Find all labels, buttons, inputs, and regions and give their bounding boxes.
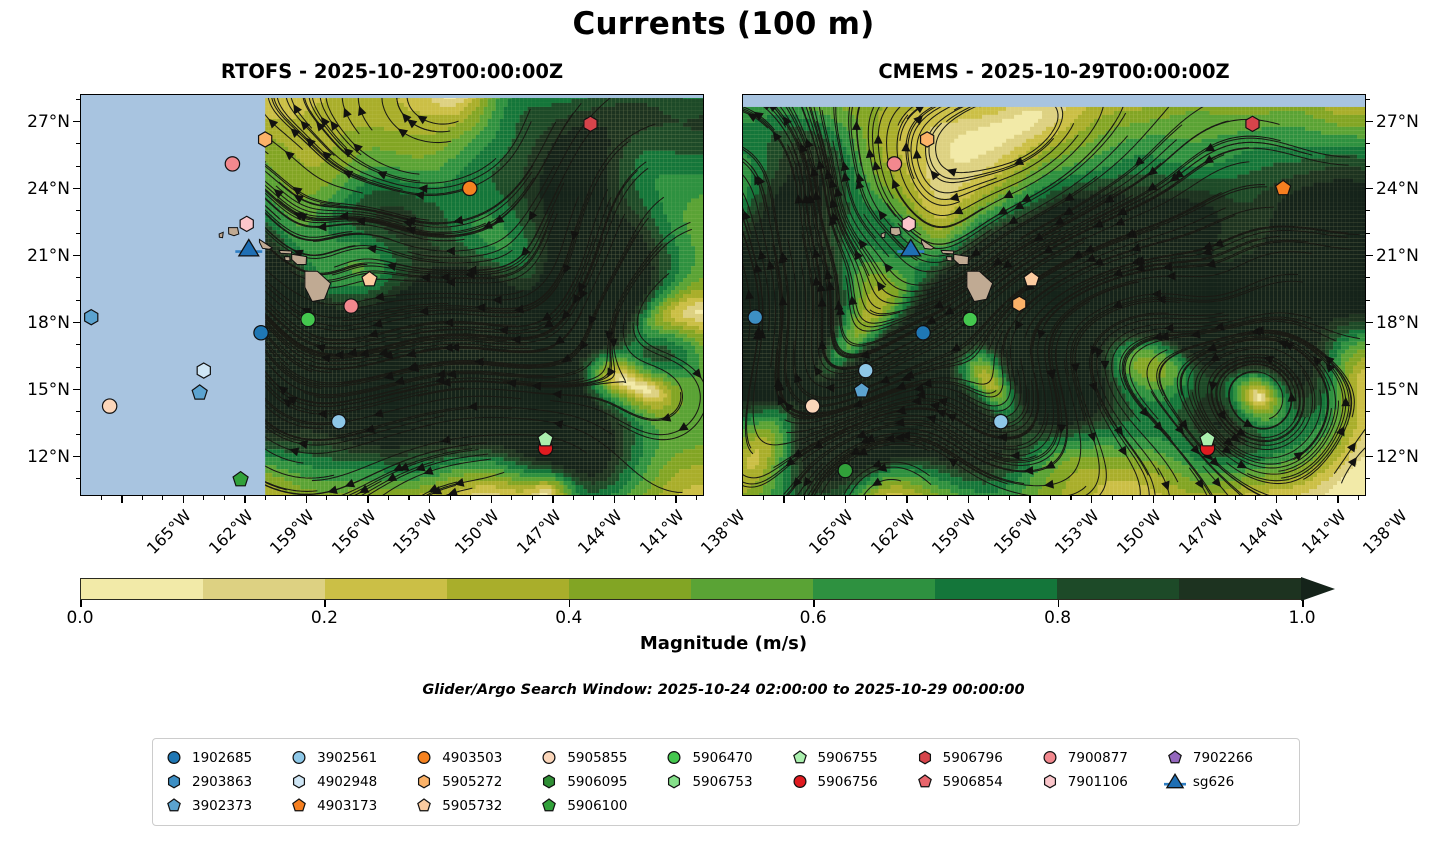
legend-label-5906756: 5906756 xyxy=(818,774,878,790)
xtick-minor-cmems xyxy=(1112,496,1113,500)
top-mask-strip xyxy=(81,95,703,98)
xtick-label-cmems-6: 147°W xyxy=(1174,506,1226,558)
ytick-minor-cmems xyxy=(1366,166,1370,167)
colorbar-band-1 xyxy=(203,579,325,599)
ytick-label-left-3: 18°N xyxy=(0,313,70,333)
xtick-minor-cmems xyxy=(1317,496,1318,500)
legend-marker-5906100 xyxy=(538,796,560,815)
colorbar-tick-5 xyxy=(1302,600,1304,607)
xtick-label-rtofs-0: 165°W xyxy=(143,506,195,558)
ytick-minor-cmems xyxy=(1366,99,1370,100)
colorbar-ticklabel-4: 0.8 xyxy=(1044,608,1071,628)
xtick-rtofs-6 xyxy=(491,496,493,503)
legend-item-5906755[interactable]: 5906755 xyxy=(789,748,914,767)
float-marker-5906470[interactable] xyxy=(301,312,315,326)
legend-label-5905732: 5905732 xyxy=(442,798,502,814)
float-marker-5905855[interactable] xyxy=(102,399,116,413)
xtick-cmems-7 xyxy=(1214,496,1216,503)
legend-label-4902948: 4902948 xyxy=(317,774,377,790)
xtick-rtofs-7 xyxy=(552,496,554,503)
top-mask-strip xyxy=(743,95,1365,107)
xtick-minor-cmems xyxy=(1009,496,1010,500)
figure-canvas: Currents (100 m) RTOFS - 2025-10-29T00:0… xyxy=(0,0,1447,863)
legend-marker-5906796 xyxy=(914,748,936,767)
map-canvas-rtofs xyxy=(81,95,703,495)
legend-marker-3902561 xyxy=(288,748,310,767)
xtick-cmems-1 xyxy=(845,496,847,503)
ytick-minor-cmems xyxy=(1366,233,1370,234)
ytick-rtofs-4 xyxy=(73,389,80,391)
xtick-label-rtofs-3: 156°W xyxy=(328,506,380,558)
ytick-minor-cmems xyxy=(1366,367,1370,368)
xtick-minor-cmems xyxy=(824,496,825,500)
xtick-label-cmems-9: 138°W xyxy=(1359,506,1411,558)
xtick-label-cmems-3: 156°W xyxy=(990,506,1042,558)
ytick-minor-rtofs xyxy=(76,344,80,345)
panel-title-rtofs: RTOFS - 2025-10-29T00:00:00Z xyxy=(80,60,704,83)
legend-marker-7900877 xyxy=(1039,748,1061,767)
ytick-cmems-4 xyxy=(1366,389,1373,391)
xtick-rtofs-5 xyxy=(429,496,431,503)
float-marker-5906470[interactable] xyxy=(963,312,977,326)
xtick-minor-rtofs xyxy=(388,496,389,500)
legend-marker-5906095 xyxy=(538,772,560,791)
float-marker-5905272[interactable] xyxy=(921,132,934,147)
legend-label-5906100: 5906100 xyxy=(567,798,627,814)
ytick-minor-rtofs xyxy=(76,434,80,435)
legend-label-5906470: 5906470 xyxy=(692,750,752,766)
ytick-label-right-0: 27°N xyxy=(1376,112,1446,132)
ytick-minor-cmems xyxy=(1366,344,1370,345)
xtick-rtofs-8 xyxy=(614,496,616,503)
legend-item-5906756[interactable]: 5906756 xyxy=(789,772,914,791)
xtick-minor-cmems xyxy=(886,496,887,500)
legend-item-2903863[interactable]: 2903863 xyxy=(163,772,288,791)
xtick-cmems-5 xyxy=(1091,496,1093,503)
legend-marker-7901106 xyxy=(1039,772,1061,791)
legend-marker-sg626 xyxy=(1164,772,1186,791)
xtick-minor-rtofs xyxy=(162,496,163,500)
ytick-label-right-2: 21°N xyxy=(1376,246,1446,266)
colorbar-band-0 xyxy=(81,579,203,599)
ytick-cmems-1 xyxy=(1366,188,1373,190)
panel-title-cmems: CMEMS - 2025-10-29T00:00:00Z xyxy=(742,60,1366,83)
colorbar-band-2 xyxy=(325,579,447,599)
legend-item-5906854[interactable]: 5906854 xyxy=(914,772,1039,791)
legend-marker-7902266 xyxy=(1164,748,1186,767)
legend-label-2903863: 2903863 xyxy=(192,774,252,790)
xtick-label-rtofs-7: 144°W xyxy=(574,506,626,558)
float-marker-5906796[interactable] xyxy=(584,116,597,131)
ytick-minor-rtofs xyxy=(76,99,80,100)
legend-label-5906753: 5906753 xyxy=(692,774,752,790)
legend-marker-5905732 xyxy=(413,796,435,815)
ytick-minor-cmems xyxy=(1366,277,1370,278)
legend-label-5906755: 5906755 xyxy=(818,750,878,766)
float-marker-3902561b[interactable] xyxy=(994,415,1008,429)
ytick-label-right-3: 18°N xyxy=(1376,313,1446,333)
float-marker-5906796[interactable] xyxy=(1246,116,1259,131)
xtick-label-cmems-5: 150°W xyxy=(1113,506,1165,558)
legend-marker-4902948 xyxy=(288,772,310,791)
colorbar-band-7 xyxy=(935,579,1057,599)
legend-label-5905855: 5905855 xyxy=(567,750,627,766)
xtick-cmems-8 xyxy=(1276,496,1278,503)
colorbar-band-5 xyxy=(691,579,813,599)
ytick-minor-cmems xyxy=(1366,300,1370,301)
ytick-minor-cmems xyxy=(1366,434,1370,435)
colorbar-tick-4 xyxy=(1058,600,1060,607)
legend-item-5906753[interactable]: 5906753 xyxy=(663,772,788,791)
ytick-minor-rtofs xyxy=(76,367,80,368)
ytick-minor-rtofs xyxy=(76,411,80,412)
xtick-minor-cmems xyxy=(865,496,866,500)
ytick-minor-rtofs xyxy=(76,478,80,479)
ytick-label-left-2: 21°N xyxy=(0,246,70,266)
xtick-label-cmems-0: 165°W xyxy=(805,506,857,558)
ytick-minor-rtofs xyxy=(76,233,80,234)
legend-label-3902373: 3902373 xyxy=(192,798,252,814)
legend-label-sg626: sg626 xyxy=(1193,774,1234,790)
legend-label-1902685: 1902685 xyxy=(192,750,252,766)
float-marker-7900877[interactable] xyxy=(887,157,901,171)
legend-item-5905855[interactable]: 5905855 xyxy=(538,748,663,767)
colorbar-ticklabel-1: 0.2 xyxy=(311,608,338,628)
xtick-label-rtofs-6: 147°W xyxy=(512,506,564,558)
ytick-minor-cmems xyxy=(1366,143,1370,144)
xtick-label-cmems-1: 162°W xyxy=(867,506,919,558)
xtick-minor-cmems xyxy=(1255,496,1256,500)
float-marker-2903863[interactable] xyxy=(748,310,762,324)
ytick-label-right-4: 15°N xyxy=(1376,380,1446,400)
xtick-label-cmems-2: 159°W xyxy=(928,506,980,558)
xtick-minor-rtofs xyxy=(696,496,697,500)
ytick-rtofs-5 xyxy=(73,456,80,458)
xtick-cmems-0 xyxy=(783,496,785,503)
legend-label-4903173: 4903173 xyxy=(317,798,377,814)
xtick-minor-rtofs xyxy=(634,496,635,500)
xtick-minor-rtofs xyxy=(655,496,656,500)
figure-suptitle: Currents (100 m) xyxy=(0,6,1447,42)
xtick-label-rtofs-5: 150°W xyxy=(451,506,503,558)
xtick-minor-rtofs xyxy=(408,496,409,500)
legend-label-7901106: 7901106 xyxy=(1068,774,1128,790)
legend-item-4902948[interactable]: 4902948 xyxy=(288,772,413,791)
ytick-minor-rtofs xyxy=(76,277,80,278)
float-marker-3902561[interactable] xyxy=(859,363,873,377)
xtick-cmems-6 xyxy=(1153,496,1155,503)
legend-marker-5905855 xyxy=(538,748,560,767)
xtick-cmems-2 xyxy=(906,496,908,503)
colorbar-extend-arrow xyxy=(1301,577,1335,601)
colorbar-gradient xyxy=(80,578,1302,600)
xtick-minor-rtofs xyxy=(450,496,451,500)
ytick-label-right-1: 24°N xyxy=(1376,179,1446,199)
float-marker-7901106[interactable] xyxy=(902,216,915,231)
xtick-minor-rtofs xyxy=(573,496,574,500)
ytick-minor-cmems xyxy=(1366,411,1370,412)
xtick-minor-cmems xyxy=(1173,496,1174,500)
ytick-label-right-5: 12°N xyxy=(1376,447,1446,467)
legend-item-sg626[interactable]: sg626 xyxy=(1164,772,1289,791)
ytick-cmems-2 xyxy=(1366,255,1373,257)
float-legend[interactable]: 1902685 2903863 3902373 3902561 xyxy=(152,738,1300,826)
xtick-rtofs-9 xyxy=(675,496,677,503)
xtick-minor-rtofs xyxy=(285,496,286,500)
legend-label-7900877: 7900877 xyxy=(1068,750,1128,766)
float-marker-5905272b[interactable] xyxy=(1013,296,1026,311)
xtick-cmems-4 xyxy=(1029,496,1031,503)
colorbar-label: Magnitude (m/s) xyxy=(0,633,1447,654)
ytick-minor-cmems xyxy=(1366,478,1370,479)
xtick-label-cmems-8: 141°W xyxy=(1298,506,1350,558)
legend-item-5906100[interactable]: 5906100 xyxy=(538,796,663,815)
ytick-label-left-5: 12°N xyxy=(0,447,70,467)
legend-item-5906796[interactable]: 5906796 xyxy=(914,748,1039,767)
ytick-cmems-0 xyxy=(1366,121,1373,123)
float-marker-1902685[interactable] xyxy=(254,326,268,340)
colorbar-band-9 xyxy=(1179,579,1301,599)
legend-label-5906796: 5906796 xyxy=(943,750,1003,766)
legend-marker-5906755 xyxy=(789,748,811,767)
colorbar[interactable] xyxy=(80,578,1302,600)
colorbar-band-4 xyxy=(569,579,691,599)
ytick-minor-rtofs xyxy=(76,300,80,301)
legend-marker-2903863 xyxy=(163,772,185,791)
xtick-minor-rtofs xyxy=(224,496,225,500)
colorbar-ticklabel-0: 0.0 xyxy=(66,608,93,628)
xtick-minor-rtofs xyxy=(265,496,266,500)
xtick-minor-cmems xyxy=(804,496,805,500)
ytick-rtofs-2 xyxy=(73,255,80,257)
colorbar-ticklabel-5: 1.0 xyxy=(1288,608,1315,628)
map-canvas-cmems xyxy=(743,95,1365,495)
legend-item-4903503[interactable]: 4903503 xyxy=(413,748,538,767)
legend-item-5906095[interactable]: 5906095 xyxy=(538,772,663,791)
float-marker-5905272[interactable] xyxy=(259,132,272,147)
xtick-minor-cmems xyxy=(763,496,764,500)
float-marker-1902685[interactable] xyxy=(916,326,930,340)
colorbar-band-8 xyxy=(1057,579,1179,599)
ytick-label-left-0: 27°N xyxy=(0,112,70,132)
legend-item-3902373[interactable]: 3902373 xyxy=(163,796,288,815)
legend-marker-5906756 xyxy=(789,772,811,791)
legend-marker-5906854 xyxy=(914,772,936,791)
xtick-label-rtofs-4: 153°W xyxy=(389,506,441,558)
legend-label-5906854: 5906854 xyxy=(943,774,1003,790)
ytick-minor-rtofs xyxy=(76,210,80,211)
map-panel-cmems[interactable] xyxy=(742,94,1366,496)
xtick-minor-rtofs xyxy=(347,496,348,500)
xtick-minor-cmems xyxy=(1194,496,1195,500)
ytick-rtofs-1 xyxy=(73,188,80,190)
colorbar-band-3 xyxy=(447,579,569,599)
xtick-minor-rtofs xyxy=(142,496,143,500)
xtick-rtofs-4 xyxy=(367,496,369,503)
ytick-cmems-5 xyxy=(1366,456,1373,458)
xtick-minor-rtofs xyxy=(326,496,327,500)
float-marker-4902948[interactable] xyxy=(197,363,210,378)
xtick-label-rtofs-9: 138°W xyxy=(697,506,749,558)
xtick-minor-cmems xyxy=(1296,496,1297,500)
legend-item-3902561[interactable]: 3902561 xyxy=(288,748,413,767)
ytick-rtofs-0 xyxy=(73,121,80,123)
legend-item-5905272[interactable]: 5905272 xyxy=(413,772,538,791)
xtick-minor-cmems xyxy=(1132,496,1133,500)
legend-label-5905272: 5905272 xyxy=(442,774,502,790)
xtick-minor-cmems xyxy=(1050,496,1051,500)
xtick-label-rtofs-2: 159°W xyxy=(266,506,318,558)
legend-marker-4903503 xyxy=(413,748,435,767)
map-panel-rtofs[interactable] xyxy=(80,94,704,496)
colorbar-ticklabel-2: 0.4 xyxy=(555,608,582,628)
legend-item-5905732[interactable]: 5905732 xyxy=(413,796,538,815)
xtick-minor-rtofs xyxy=(511,496,512,500)
xtick-minor-rtofs xyxy=(593,496,594,500)
float-marker-4903503[interactable] xyxy=(463,181,477,195)
xtick-label-cmems-7: 144°W xyxy=(1236,506,1288,558)
legend-item-7901106[interactable]: 7901106 xyxy=(1039,772,1164,791)
legend-marker-4903173 xyxy=(288,796,310,815)
xtick-minor-rtofs xyxy=(532,496,533,500)
legend-label-4903503: 4903503 xyxy=(442,750,502,766)
float-marker-7900877b[interactable] xyxy=(344,299,358,313)
xtick-minor-cmems xyxy=(927,496,928,500)
xtick-minor-rtofs xyxy=(203,496,204,500)
xtick-minor-cmems xyxy=(1358,496,1359,500)
xtick-minor-rtofs xyxy=(101,496,102,500)
xtick-rtofs-1 xyxy=(183,496,185,503)
ytick-label-left-1: 24°N xyxy=(0,179,70,199)
ytick-minor-rtofs xyxy=(76,166,80,167)
xtick-label-cmems-4: 153°W xyxy=(1051,506,1103,558)
float-marker-5905855[interactable] xyxy=(805,399,819,413)
float-marker-3902561[interactable] xyxy=(332,415,346,429)
xtick-label-rtofs-8: 141°W xyxy=(636,506,688,558)
ytick-minor-rtofs xyxy=(76,143,80,144)
legend-label-3902561: 3902561 xyxy=(317,750,377,766)
xtick-minor-cmems xyxy=(1070,496,1071,500)
colorbar-tick-2 xyxy=(569,600,571,607)
legend-marker-5906753 xyxy=(663,772,685,791)
legend-marker-5905272 xyxy=(413,772,435,791)
search-window-text: Glider/Argo Search Window: 2025-10-24 02… xyxy=(0,682,1447,698)
legend-item-1902685[interactable]: 1902685 xyxy=(163,748,288,767)
float-marker-5906100[interactable] xyxy=(838,463,852,477)
float-marker-7900877[interactable] xyxy=(225,157,239,171)
ytick-minor-cmems xyxy=(1366,210,1370,211)
legend-item-5906470[interactable]: 5906470 xyxy=(663,748,788,767)
xtick-cmems-3 xyxy=(968,496,970,503)
legend-label-5906095: 5906095 xyxy=(567,774,627,790)
float-marker-3902373[interactable] xyxy=(85,310,98,325)
xtick-minor-cmems xyxy=(988,496,989,500)
ytick-rtofs-3 xyxy=(73,322,80,324)
xtick-label-rtofs-1: 162°W xyxy=(205,506,257,558)
legend-item-7900877[interactable]: 7900877 xyxy=(1039,748,1164,767)
xtick-rtofs-0 xyxy=(121,496,123,503)
xtick-minor-cmems xyxy=(947,496,948,500)
legend-item-7902266[interactable]: 7902266 xyxy=(1164,748,1289,767)
colorbar-tick-0 xyxy=(80,600,82,607)
xtick-minor-cmems xyxy=(1235,496,1236,500)
xtick-minor-rtofs xyxy=(470,496,471,500)
legend-item-4903173[interactable]: 4903173 xyxy=(288,796,413,815)
colorbar-tick-1 xyxy=(324,600,326,607)
legend-marker-1902685 xyxy=(163,748,185,767)
colorbar-band-6 xyxy=(813,579,935,599)
xtick-rtofs-3 xyxy=(306,496,308,503)
colorbar-ticklabel-3: 0.6 xyxy=(800,608,827,628)
no-data-mask-over xyxy=(81,95,265,495)
xtick-cmems-9 xyxy=(1337,496,1339,503)
ytick-cmems-3 xyxy=(1366,322,1373,324)
legend-marker-3902373 xyxy=(163,796,185,815)
xtick-rtofs-2 xyxy=(244,496,246,503)
ytick-label-left-4: 15°N xyxy=(0,380,70,400)
legend-marker-5906470 xyxy=(663,748,685,767)
colorbar-tick-3 xyxy=(813,600,815,607)
float-marker-7901106[interactable] xyxy=(240,216,253,231)
legend-label-7902266: 7902266 xyxy=(1193,750,1253,766)
